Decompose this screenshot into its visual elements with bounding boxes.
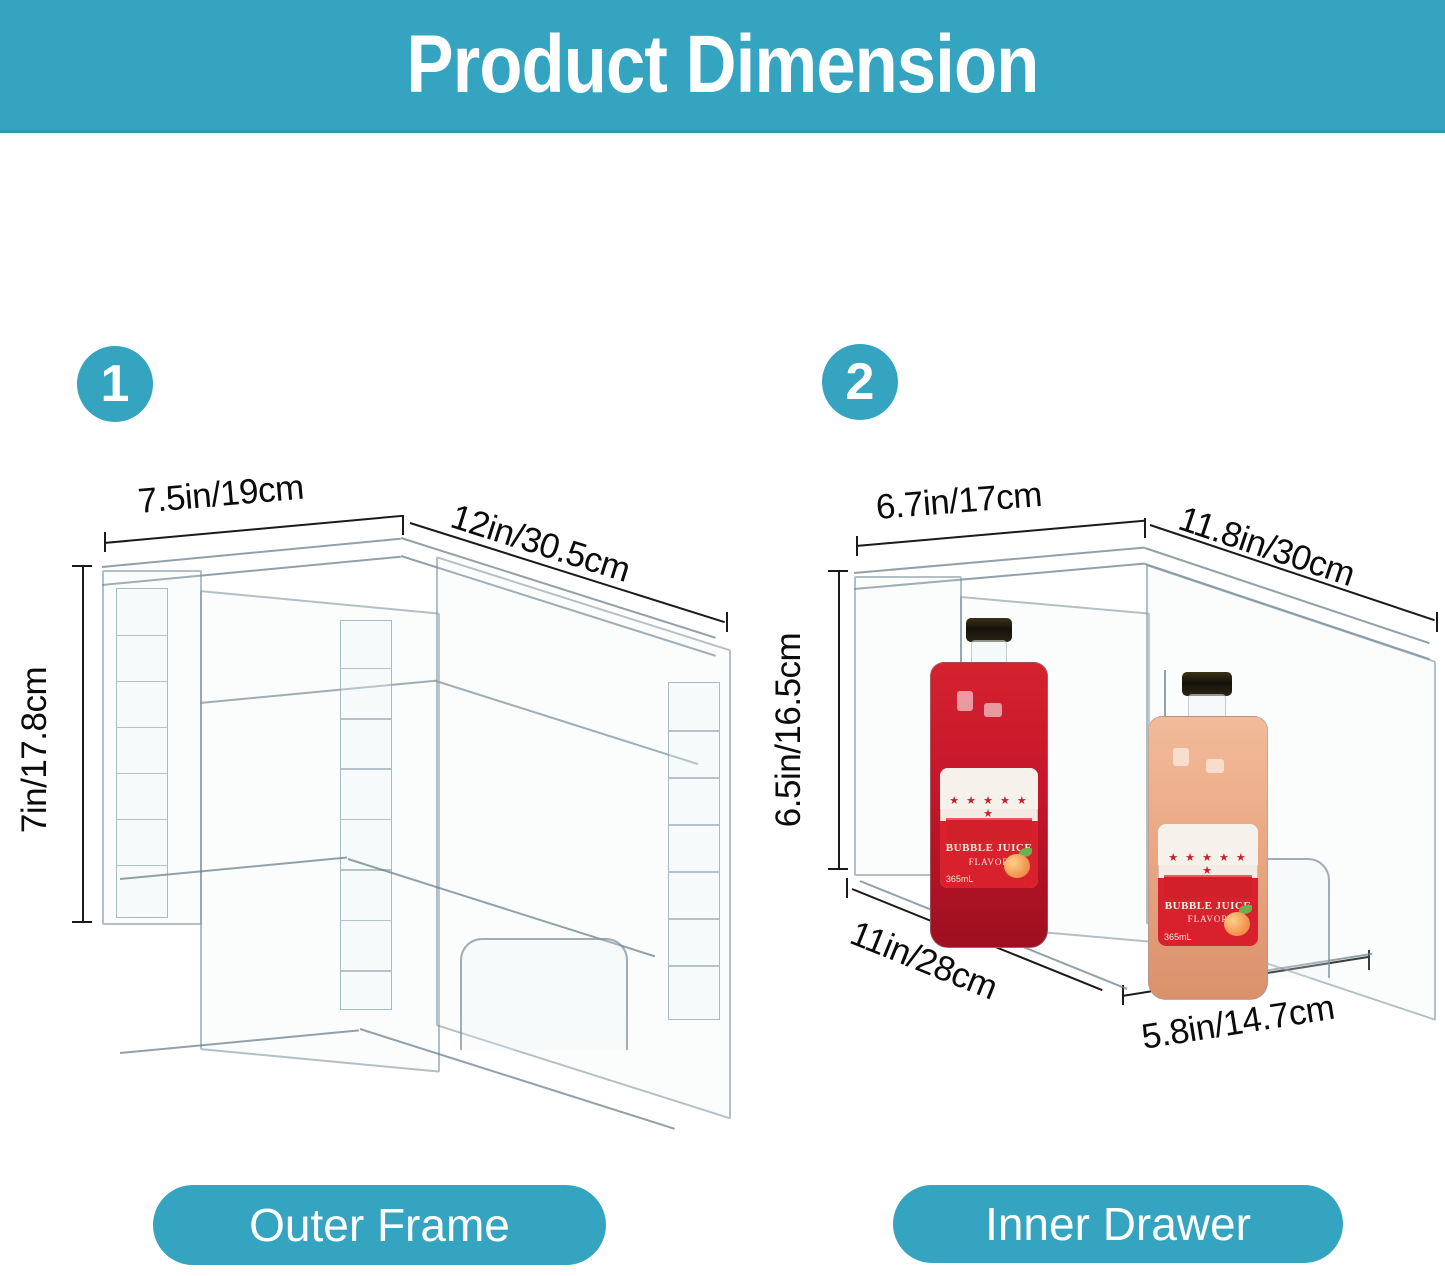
bottle-label-red: ★ ★ ★ ★ ★ ★ BUBBLE JUICE FLAVOR 365mL — [940, 768, 1038, 888]
dim-tick-right — [402, 515, 404, 535]
drawer-rim-front-left — [854, 547, 1145, 574]
dim-label-height-right: 6.5in/16.5cm — [769, 633, 809, 827]
bottle-gloss2-peach — [1206, 759, 1224, 773]
rib-rail-left — [116, 588, 168, 918]
bottle-cap-peach — [1182, 672, 1232, 696]
dim-tick-height-top — [72, 565, 92, 567]
dim-label-depth-top-right: 11.8in/30cm — [1174, 499, 1360, 595]
bin-front-wall — [200, 590, 440, 1073]
dim-tick-depth-end-2 — [1436, 612, 1438, 632]
dim-tick-height-bottom — [72, 921, 92, 923]
rib-rail-middle — [340, 620, 392, 1010]
label-volume-red: 365mL — [946, 874, 974, 884]
dim-tick-height-bottom-2 — [828, 868, 848, 870]
rim-edge-front-left — [102, 538, 401, 568]
label-volume-peach: 365mL — [1164, 932, 1192, 942]
dim-tick-depth-end — [726, 612, 728, 632]
caption-outer-frame: Outer Frame — [153, 1185, 606, 1265]
bottle-gloss-red — [957, 691, 973, 711]
caption-inner-drawer: Inner Drawer — [893, 1185, 1343, 1263]
label-stars-peach: ★ ★ ★ ★ ★ ★ — [1166, 851, 1250, 877]
bottle-gloss2-red — [984, 703, 1002, 717]
dim-label-width-top-right: 6.7in/17cm — [874, 475, 1043, 528]
dim-line-height-left — [82, 565, 84, 923]
bottle-cap-red — [966, 618, 1012, 642]
dim-tick-left-2 — [856, 536, 858, 556]
dim-line-height-right — [838, 570, 840, 870]
bottle-gloss-peach — [1173, 748, 1189, 766]
outer-frame-handle — [460, 938, 628, 1050]
dim-tick-left — [104, 532, 106, 552]
dim-label-height-left: 7in/17.8cm — [15, 667, 55, 833]
page-title: Product Dimension — [101, 0, 1344, 130]
bottle-label-peach: ★ ★ ★ ★ ★ ★ BUBBLE JUICE FLAVOR 365mL — [1158, 824, 1258, 946]
rib-rail-right — [668, 682, 720, 1020]
label-stars-red: ★ ★ ★ ★ ★ ★ — [948, 794, 1030, 820]
product-panel-outer-frame: 7.5in/19cm 12in/30.5cm 7in/17.8cm — [20, 460, 740, 1160]
label-ribbon-red — [946, 818, 1032, 840]
dim-tick-depth-bottom-start — [846, 878, 848, 898]
dim-label-width-top-left: 7.5in/19cm — [136, 468, 305, 522]
bottle-red: ★ ★ ★ ★ ★ ★ BUBBLE JUICE FLAVOR 365mL — [930, 618, 1048, 948]
bottle-peach: ★ ★ ★ ★ ★ ★ BUBBLE JUICE FLAVOR 365mL — [1148, 672, 1268, 1002]
dim-tick-right-2 — [1144, 518, 1146, 538]
product-panel-inner-drawer: 6.7in/17cm 11.8in/30cm 6.5in/16.5cm 11in… — [760, 460, 1430, 1160]
label-ribbon-peach — [1164, 875, 1252, 898]
header-banner: Product Dimension — [0, 0, 1445, 133]
step-badge-1: 1 — [77, 346, 153, 422]
dim-tick-height-top-2 — [828, 570, 848, 572]
step-badge-2: 2 — [822, 344, 898, 420]
